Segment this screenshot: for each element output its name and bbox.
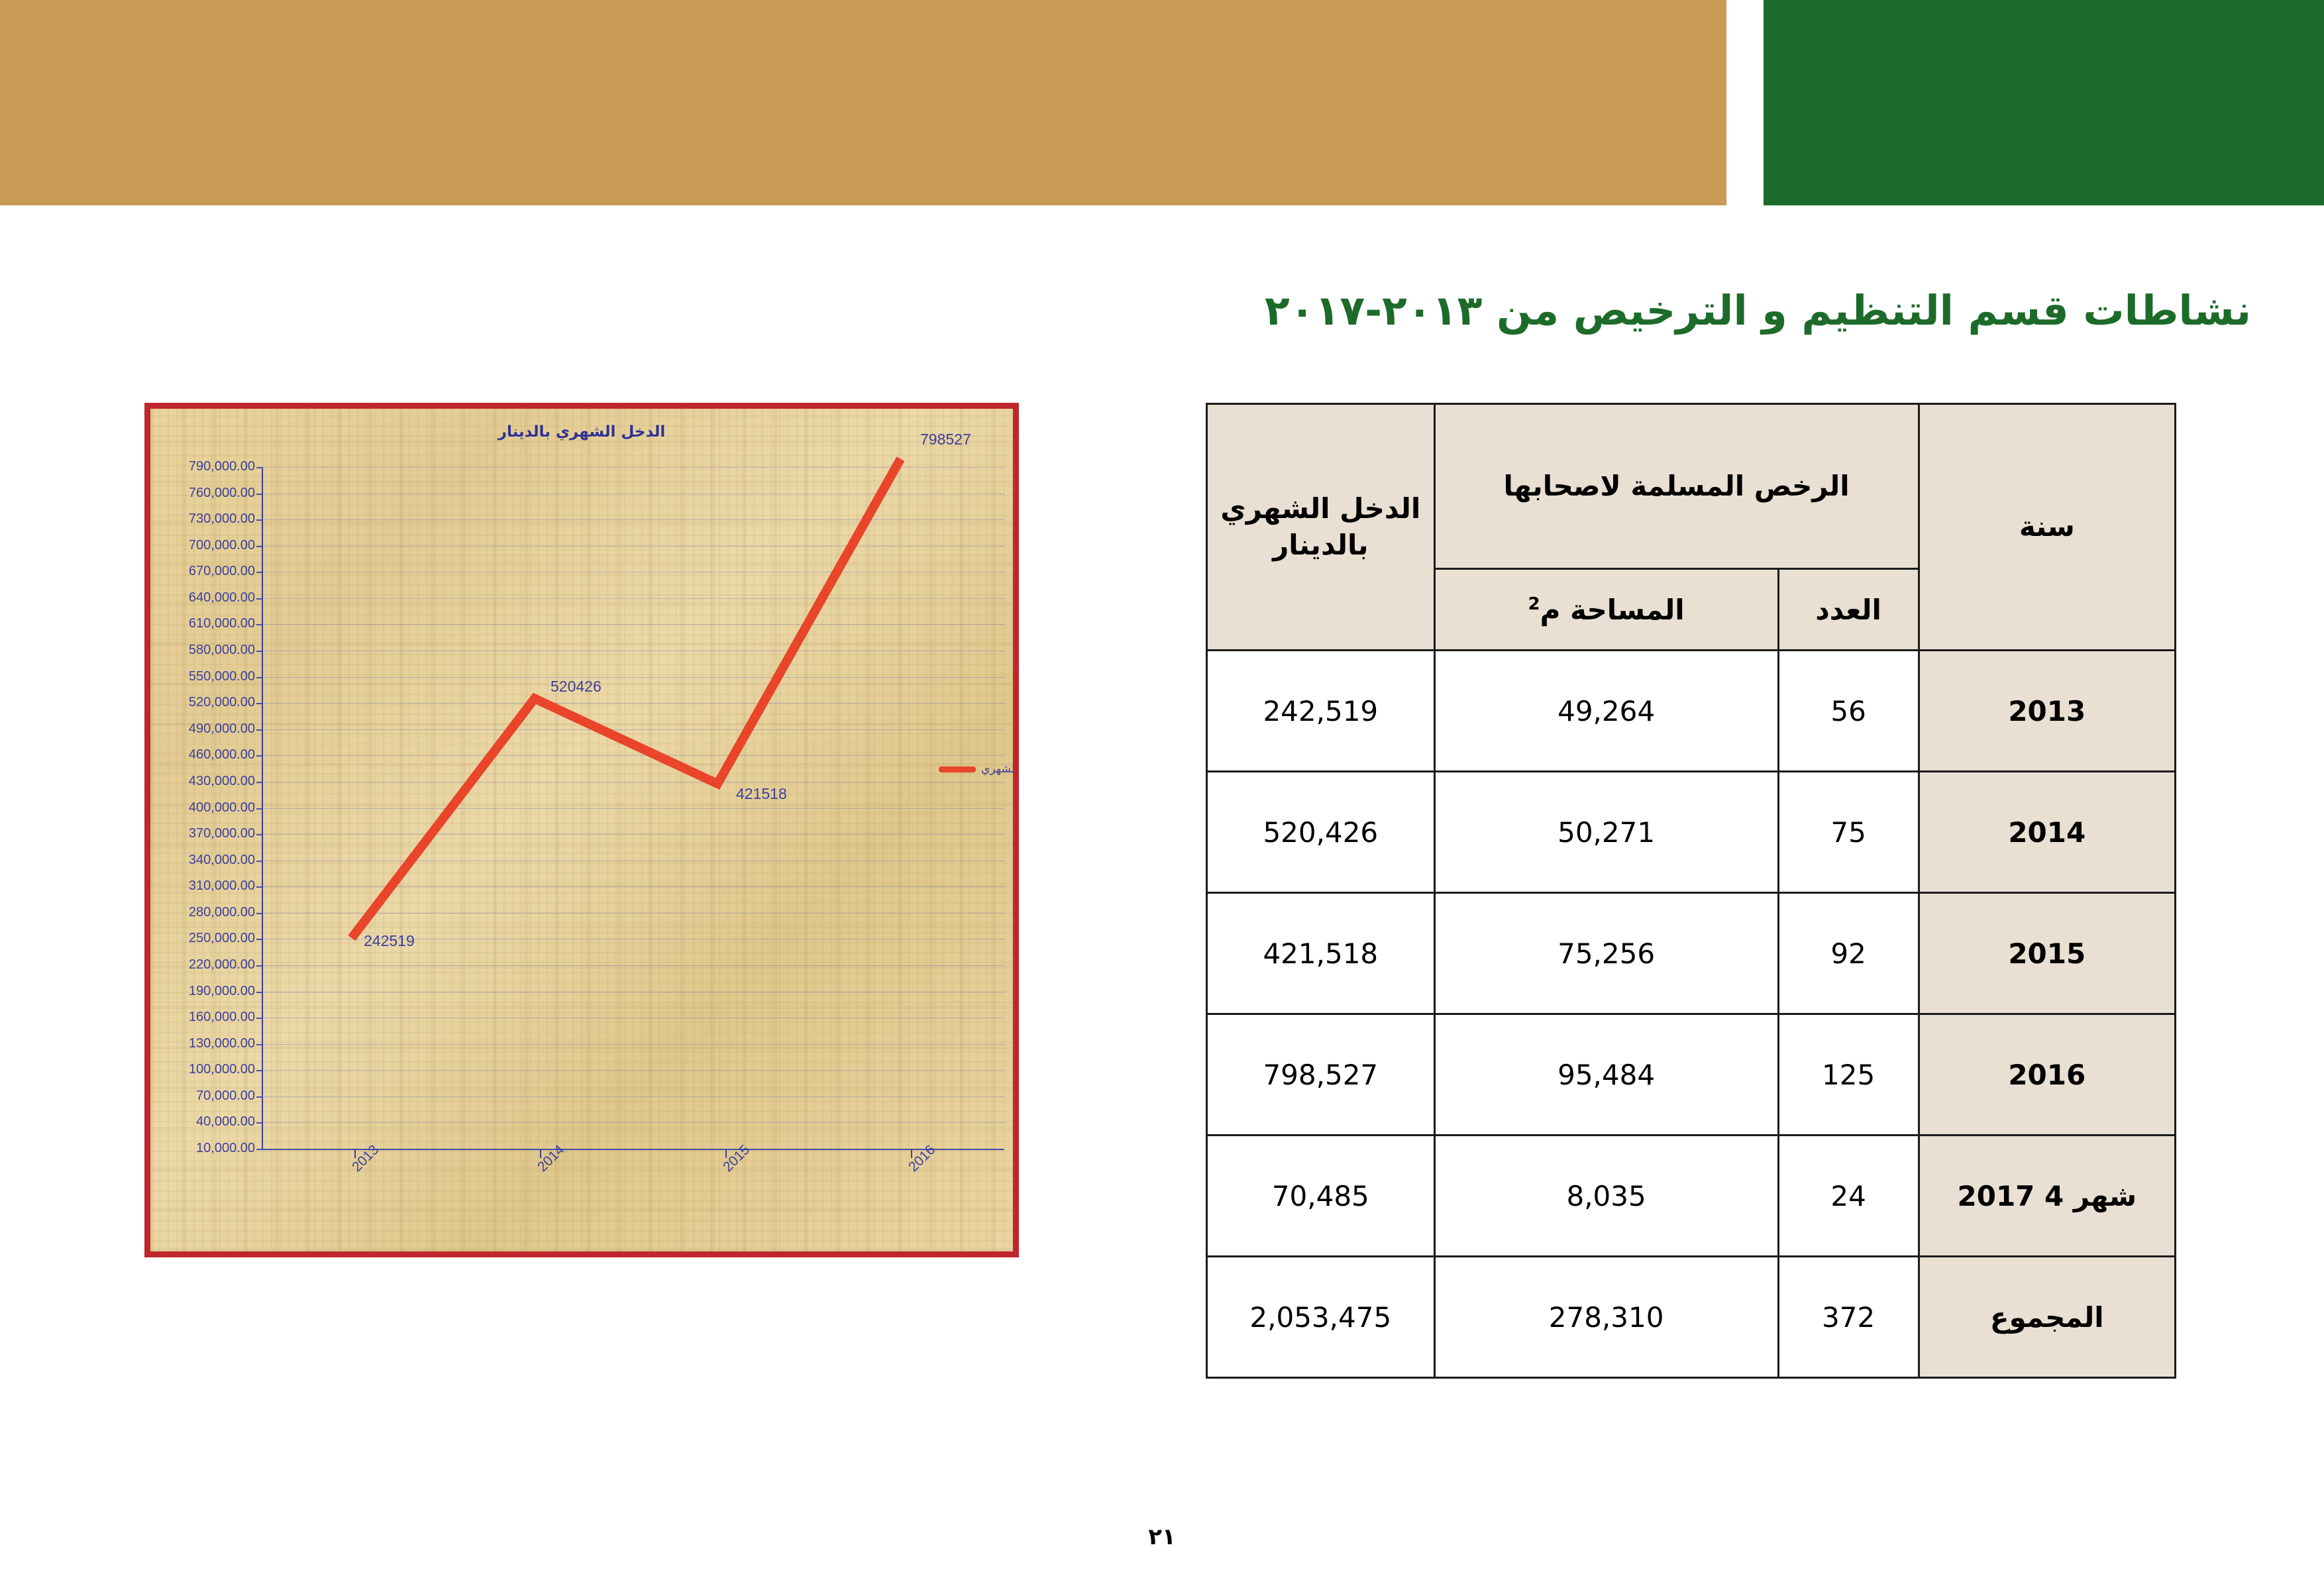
cell-year: 2015	[1919, 893, 2175, 1014]
cell-monthly-income: 242,519	[1207, 651, 1435, 772]
y-axis-tick-mark	[256, 624, 262, 625]
y-axis-tick-label: 130,000.00	[150, 1036, 255, 1051]
gridline	[262, 546, 1005, 547]
cell-year: 2014	[1919, 772, 2175, 893]
y-axis-tick-mark	[256, 992, 262, 993]
y-axis-tick-label: 220,000.00	[150, 957, 255, 973]
y-axis-tick-mark	[256, 546, 262, 547]
y-axis-tick-mark	[256, 1044, 262, 1045]
x-axis-tick-label: 2015	[720, 1142, 753, 1175]
data-point-label: 520426	[551, 678, 602, 696]
chart-title: الدخل الشهري بالدينار	[150, 423, 1013, 441]
series-line-monthly-income	[352, 459, 901, 938]
y-axis-tick-label: 700,000.00	[150, 538, 255, 553]
x-axis-tick-label: 2014	[535, 1142, 568, 1175]
gridline	[262, 1044, 1005, 1045]
table-row: 20135649,264242,519	[1207, 651, 2176, 772]
cell-license-count: 372	[1778, 1257, 1919, 1378]
y-axis-tick-mark	[256, 834, 262, 835]
table-row: 201612595,484798,527	[1207, 1014, 2176, 1136]
gridline	[262, 467, 1005, 468]
table-row: شهر 4 2017248,03570,485	[1207, 1136, 2176, 1257]
y-axis-tick-mark	[256, 703, 262, 704]
cell-license-count: 24	[1778, 1136, 1919, 1257]
table-header-row: سنة الرخص المسلمة لاصحابها الدخل الشهري …	[1207, 404, 2176, 569]
data-point-label: 242519	[364, 932, 415, 950]
cell-license-count: 92	[1778, 893, 1919, 1014]
cell-license-count: 125	[1778, 1014, 1919, 1136]
y-axis-tick-label: 640,000.00	[150, 590, 255, 606]
cell-license-area: 49,264	[1434, 651, 1778, 772]
header-monthly-income: الدخل الشهري بالدينار	[1207, 404, 1435, 651]
y-axis-tick-label: 610,000.00	[150, 616, 255, 631]
gridline	[262, 913, 1005, 914]
line-series-svg	[150, 409, 1013, 1251]
y-axis-tick-label: 370,000.00	[150, 826, 255, 841]
x-axis-tick-label: 2016	[906, 1142, 939, 1175]
gridline	[262, 494, 1005, 494]
cell-license-area: 8,035	[1434, 1136, 1778, 1257]
page-title: نشاطات قسم التنظيم و الترخيص من ٢٠١٣-٢٠١…	[1257, 285, 2251, 337]
gridline	[262, 834, 1005, 835]
y-axis-tick-label: 790,000.00	[150, 459, 255, 474]
cell-monthly-income: 421,518	[1207, 893, 1435, 1014]
gridline	[262, 598, 1005, 599]
x-axis-tick-label: 2013	[349, 1142, 382, 1175]
gridline	[262, 703, 1005, 704]
subheader-count: العدد	[1778, 569, 1919, 651]
gridline	[262, 992, 1005, 992]
gridline	[262, 1122, 1005, 1123]
cell-license-count: 75	[1778, 772, 1919, 893]
legend-label-monthly-income: الدخل الشهري	[981, 763, 1019, 776]
y-axis-tick-label: 430,000.00	[150, 774, 255, 789]
y-axis-tick-label: 580,000.00	[150, 643, 255, 658]
data-point-label: 798527	[920, 431, 971, 449]
subheader-area-superscript: 2	[1528, 594, 1540, 614]
y-axis-tick-mark	[256, 677, 262, 678]
gridline	[262, 729, 1005, 730]
y-axis-tick-mark	[256, 729, 262, 731]
y-axis-tick-label: 10,000.00	[150, 1141, 255, 1156]
cell-license-area: 50,271	[1434, 772, 1778, 893]
y-axis-tick-mark	[256, 1122, 262, 1124]
cell-year: 2016	[1919, 1014, 2175, 1136]
cell-license-count: 56	[1778, 651, 1919, 772]
gridline	[262, 965, 1005, 966]
y-axis-tick-mark	[256, 494, 262, 495]
chart-legend: الدخل الشهري	[939, 763, 1019, 776]
gridline	[262, 782, 1005, 782]
y-axis-tick-mark	[256, 1149, 262, 1150]
y-axis-tick-mark	[256, 1070, 262, 1071]
y-axis-tick-label: 760,000.00	[150, 486, 255, 501]
gridline	[262, 808, 1005, 809]
y-axis-tick-label: 40,000.00	[150, 1114, 255, 1130]
gridline	[262, 624, 1005, 625]
y-axis-tick-mark	[256, 808, 262, 810]
subheader-area: المساحة م2	[1434, 569, 1778, 651]
y-axis-tick-label: 670,000.00	[150, 564, 255, 579]
y-axis-tick-mark	[256, 1018, 262, 1019]
header-licenses: الرخص المسلمة لاصحابها	[1434, 404, 1919, 569]
chart-panel: الدخل الشهري بالدينار 790,000.00760,000.…	[144, 403, 1019, 1257]
activities-data-table: سنة الرخص المسلمة لاصحابها الدخل الشهري …	[1206, 403, 2176, 1379]
y-axis-tick-label: 160,000.00	[150, 1010, 255, 1025]
y-axis-tick-label: 190,000.00	[150, 984, 255, 999]
y-axis-tick-label: 490,000.00	[150, 721, 255, 737]
y-axis-tick-label: 310,000.00	[150, 878, 255, 894]
header-bar-green	[1764, 0, 2324, 205]
y-axis-tick-mark	[256, 939, 262, 940]
cell-year: 2013	[1919, 651, 2175, 772]
data-point-label: 421518	[736, 785, 787, 803]
table-body: 20135649,264242,51920147550,271520,42620…	[1207, 651, 2176, 1378]
y-axis-tick-mark	[256, 519, 262, 521]
y-axis-tick-label: 730,000.00	[150, 511, 255, 527]
y-axis-tick-label: 250,000.00	[150, 931, 255, 946]
y-axis-tick-mark	[256, 913, 262, 914]
header-bar-gold	[0, 0, 1726, 205]
chart-plot-area: الدخل الشهري بالدينار 790,000.00760,000.…	[150, 409, 1013, 1251]
cell-monthly-income: 520,426	[1207, 772, 1435, 893]
y-axis-tick-mark	[256, 572, 262, 573]
cell-license-area: 95,484	[1434, 1014, 1778, 1136]
gridline	[262, 1018, 1005, 1018]
y-axis-tick-mark	[256, 598, 262, 600]
gridline	[262, 651, 1005, 651]
table-row: المجموع372278,3102,053,475	[1207, 1257, 2176, 1378]
table-row: 20159275,256421,518	[1207, 893, 2176, 1014]
cell-monthly-income: 70,485	[1207, 1136, 1435, 1257]
y-axis-tick-mark	[256, 651, 262, 652]
gridline	[262, 1096, 1005, 1097]
cell-year: شهر 4 2017	[1919, 1136, 2175, 1257]
cell-license-area: 278,310	[1434, 1257, 1778, 1378]
cell-monthly-income: 2,053,475	[1207, 1257, 1435, 1378]
gridline	[262, 861, 1005, 861]
header-year: سنة	[1919, 404, 2175, 651]
cell-license-area: 75,256	[1434, 893, 1778, 1014]
page-number: ٢١	[0, 1524, 2324, 1550]
data-table-container: سنة الرخص المسلمة لاصحابها الدخل الشهري …	[1206, 403, 2176, 1379]
y-axis-tick-mark	[256, 886, 262, 888]
y-axis-tick-label: 100,000.00	[150, 1062, 255, 1077]
y-axis-tick-mark	[256, 861, 262, 862]
y-axis-tick-mark	[256, 782, 262, 783]
y-axis-tick-label: 400,000.00	[150, 800, 255, 816]
y-axis-tick-mark	[256, 467, 262, 468]
y-axis-tick-mark	[256, 755, 262, 757]
gridline	[262, 1070, 1005, 1071]
gridline	[262, 755, 1005, 756]
cell-monthly-income: 798,527	[1207, 1014, 1435, 1136]
gridline	[262, 519, 1005, 520]
y-axis-tick-label: 280,000.00	[150, 905, 255, 920]
gridline	[262, 572, 1005, 572]
y-axis-tick-label: 520,000.00	[150, 695, 255, 710]
y-axis-tick-label: 550,000.00	[150, 669, 255, 684]
y-axis-tick-label: 460,000.00	[150, 747, 255, 763]
subheader-area-text: المساحة م	[1540, 594, 1685, 626]
gridline	[262, 886, 1005, 887]
y-axis-tick-label: 340,000.00	[150, 853, 255, 868]
cell-year: المجموع	[1919, 1257, 2175, 1378]
table-row: 20147550,271520,426	[1207, 772, 2176, 893]
y-axis-tick-mark	[256, 1096, 262, 1098]
legend-swatch-monthly-income	[939, 767, 976, 772]
y-axis-tick-label: 70,000.00	[150, 1088, 255, 1104]
gridline	[262, 677, 1005, 678]
y-axis-tick-mark	[256, 965, 262, 967]
